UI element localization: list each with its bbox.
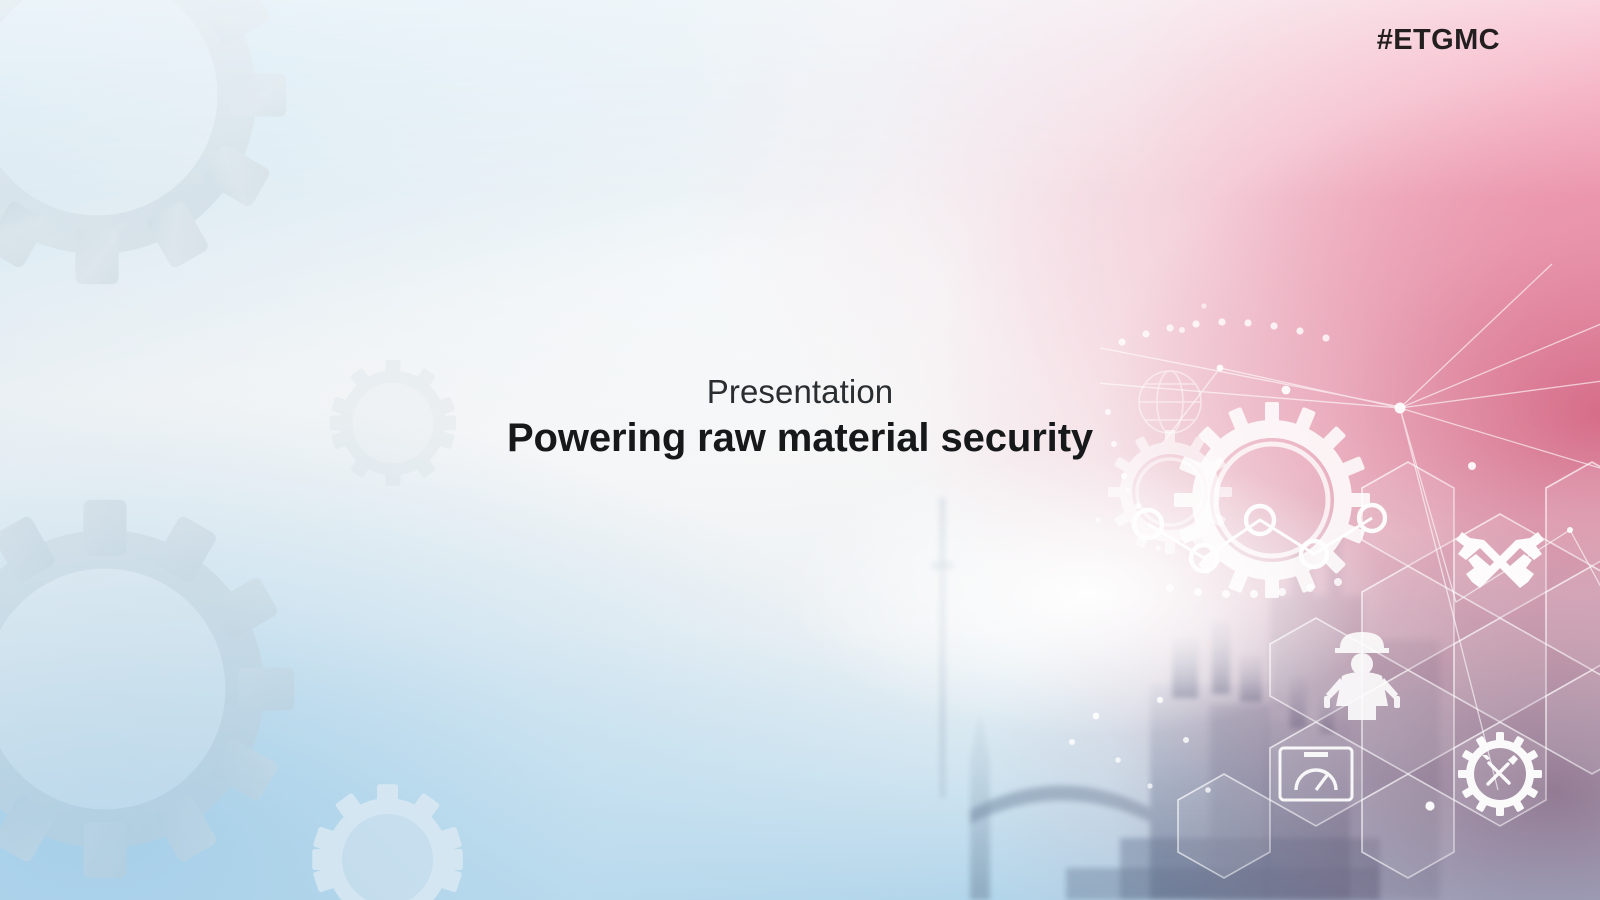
title-block: Presentation Powering raw material secur… bbox=[0, 374, 1600, 461]
slide-headline: Powering raw material security bbox=[0, 416, 1600, 461]
presentation-title-slide: #ETGMC Presentation Powering raw materia… bbox=[0, 0, 1600, 900]
slide-kicker: Presentation bbox=[0, 374, 1600, 411]
event-hashtag: #ETGMC bbox=[1377, 24, 1500, 57]
